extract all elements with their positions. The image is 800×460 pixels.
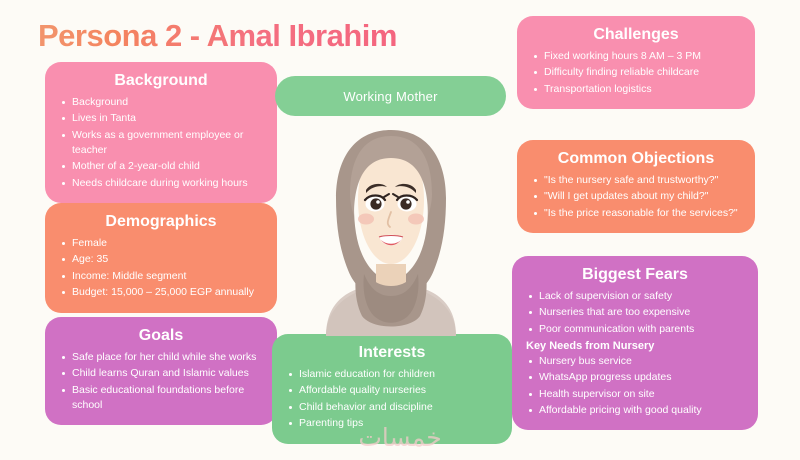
card-demographics-list: Female Age: 35 Income: Middle segment Bu… [59, 236, 263, 300]
list-item: WhatsApp progress updates [526, 370, 744, 385]
list-item: Child behavior and discipline [286, 400, 498, 415]
page-title: Persona 2 - Amal Ibrahim [38, 18, 397, 54]
list-item: Nursery bus service [526, 354, 744, 369]
list-item: Income: Middle segment [59, 269, 263, 284]
card-challenges-list: Fixed working hours 8 AM – 3 PM Difficul… [531, 49, 741, 97]
list-item: "Is the nursery safe and trustworthy?" [531, 173, 741, 188]
card-common-objections: Common Objections "Is the nursery safe a… [517, 140, 755, 233]
key-needs-subheading: Key Needs from Nursery [526, 340, 744, 352]
list-item: Needs childcare during working hours [59, 176, 263, 191]
list-item: Islamic education for children [286, 367, 498, 382]
list-item: Difficulty finding reliable childcare [531, 65, 741, 80]
card-interests-list: Islamic education for children Affordabl… [286, 367, 498, 431]
card-goals-list: Safe place for her child while she works… [59, 350, 263, 413]
card-common-objections-title: Common Objections [531, 149, 741, 169]
list-item: Affordable pricing with good quality [526, 403, 744, 418]
card-key-needs-list: Nursery bus service WhatsApp progress up… [526, 354, 744, 418]
card-background-list: Background Lives in Tanta Works as a gov… [59, 95, 263, 190]
list-item: Health supervisor on site [526, 387, 744, 402]
card-challenges-title: Challenges [531, 25, 741, 45]
list-item: Mother of a 2-year-old child [59, 159, 263, 174]
infographic-canvas: Persona 2 - Amal Ibrahim Background Back… [0, 0, 800, 460]
card-biggest-fears: Biggest Fears Lack of supervision or saf… [512, 256, 758, 430]
list-item: Age: 35 [59, 252, 263, 267]
card-background: Background Background Lives in Tanta Wor… [45, 62, 277, 203]
list-item: Works as a government employee or teache… [59, 128, 263, 158]
list-item: Basic educational foundations before sch… [59, 383, 263, 413]
list-item: Background [59, 95, 263, 110]
list-item: Safe place for her child while she works [59, 350, 263, 365]
card-background-title: Background [59, 71, 263, 91]
list-item: Poor communication with parents [526, 322, 744, 337]
watermark: خمسات [0, 423, 800, 452]
card-biggest-fears-list: Lack of supervision or safety Nurseries … [526, 289, 744, 337]
list-item: "Is the price reasonable for the service… [531, 206, 741, 221]
card-demographics-title: Demographics [59, 212, 263, 232]
card-biggest-fears-title: Biggest Fears [526, 265, 744, 285]
card-common-objections-list: "Is the nursery safe and trustworthy?" "… [531, 173, 741, 221]
card-demographics: Demographics Female Age: 35 Income: Midd… [45, 203, 277, 313]
list-item: Lives in Tanta [59, 111, 263, 126]
card-interests-title: Interests [286, 343, 498, 363]
list-item: Child learns Quran and Islamic values [59, 366, 263, 381]
working-mother-badge: Working Mother [275, 76, 506, 116]
list-item: Lack of supervision or safety [526, 289, 744, 304]
list-item: Budget: 15,000 – 25,000 EGP annually [59, 285, 263, 300]
card-challenges: Challenges Fixed working hours 8 AM – 3 … [517, 16, 755, 109]
list-item: Female [59, 236, 263, 251]
card-goals: Goals Safe place for her child while she… [45, 317, 277, 425]
working-mother-badge-label: Working Mother [343, 89, 437, 104]
list-item: Fixed working hours 8 AM – 3 PM [531, 49, 741, 64]
card-goals-title: Goals [59, 326, 263, 346]
list-item: "Will I get updates about my child?" [531, 189, 741, 204]
persona-illustration [296, 124, 486, 336]
list-item: Affordable quality nurseries [286, 383, 498, 398]
list-item: Nurseries that are too expensive [526, 305, 744, 320]
list-item: Transportation logistics [531, 82, 741, 97]
